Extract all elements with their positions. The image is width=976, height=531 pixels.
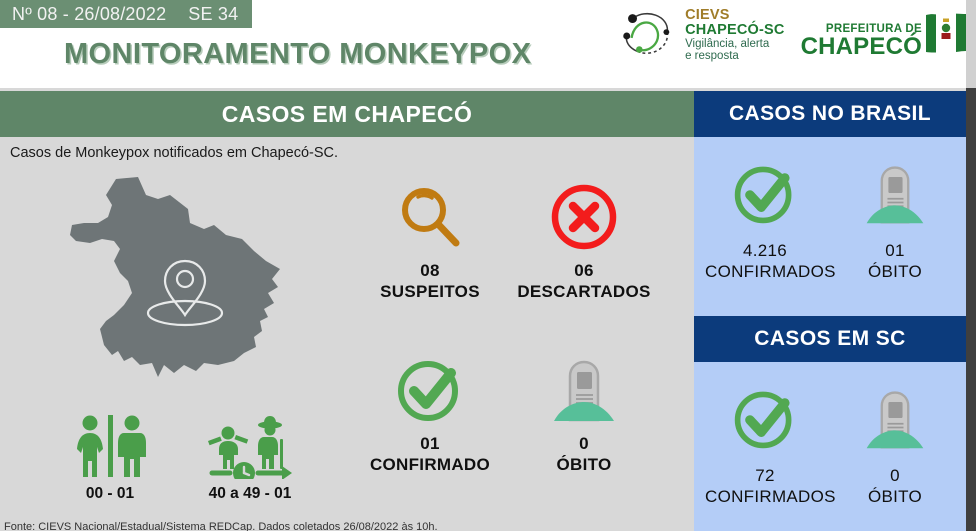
source-note: Fonte: CIEVS Nacional/Estadual/Sistema R… [4,521,438,531]
sc-panel-title: CASOS EM SC [754,327,905,351]
age-group-icon [175,409,325,479]
brasil-obito: 01 ÓBITO [835,157,955,310]
chapeco-flag-icon [924,11,968,59]
issue-banner: Nº 08 - 26/08/2022 SE 34 [0,0,252,28]
sc-confirmados-label: CONFIRMADOS [705,487,825,507]
stat-confirmado: 01 CONFIRMADO [345,352,515,475]
x-circle-icon [499,179,669,255]
stat-confirmado-label: CONFIRMADO [345,455,515,475]
demographic-gender: 00 - 01 [35,409,185,503]
cievs-line4: e resposta [685,50,784,62]
sc-obito-label: ÓBITO [835,487,955,507]
page-title: MONITORAMENTO MONKEYPOX [64,38,531,71]
sc-obito-number: 0 [835,466,955,486]
gender-icon [35,409,185,479]
tombstone-icon [499,352,669,428]
tombstone-icon [835,157,955,231]
chapeco-subtitle: Casos de Monkeypox notificados em Chapec… [10,145,338,161]
brasil-confirmados-number: 4.216 [705,241,825,261]
stat-suspeitos: 08 SUSPEITOS [345,179,515,302]
cievs-orbit-icon [619,6,677,64]
check-circle-icon [705,382,825,456]
brasil-confirmados: 4.216 CONFIRMADOS [705,157,825,310]
cievs-logo: CIEVS CHAPECÓ-SC Vigilância, alerta e re… [619,6,784,64]
cievs-line3: Vigilância, alerta [685,38,784,50]
brasil-obito-label: ÓBITO [835,262,955,282]
dashboard-page: Nº 08 - 26/08/2022 SE 34 MONITORAMENTO M… [0,0,976,531]
stat-obito-number: 0 [499,434,669,454]
chapeco-map [28,165,318,405]
brasil-obito-number: 01 [835,241,955,261]
stat-descartados-number: 06 [499,261,669,281]
prefeitura-line2: CHAPECÓ [801,35,922,59]
cievs-line1: CIEVS [685,8,784,23]
prefeitura-logo: PREFEITURA DE CHAPECÓ [801,11,968,59]
stat-descartados-label: DESCARTADOS [499,282,669,302]
brasil-panel-title: CASOS NO BRASIL [729,102,931,126]
chapeco-section-title: CASOS EM CHAPECÓ [222,101,472,128]
prefeitura-wordmark: PREFEITURA DE CHAPECÓ [801,24,922,60]
brasil-panel-header: CASOS NO BRASIL [694,91,966,137]
sc-obito: 0 ÓBITO [835,382,955,525]
sc-panel-body: 72 CONFIRMADOS 0 [694,362,966,531]
stat-suspeitos-number: 08 [345,261,515,281]
check-circle-icon [345,352,515,428]
sc-confirmados: 72 CONFIRMADOS [705,382,825,525]
cievs-line2: CHAPECÓ-SC [685,23,784,38]
chapeco-panel: Casos de Monkeypox notificados em Chapec… [0,137,694,531]
tombstone-icon [835,382,955,456]
brasil-panel-body: 4.216 CONFIRMADOS 01 [694,137,966,316]
stat-descartados: 06 DESCARTADOS [499,179,669,302]
check-circle-icon [705,157,825,231]
stat-obito: 0 ÓBITO [499,352,669,475]
chapeco-section-header: CASOS EM CHAPECÓ [0,91,694,137]
stat-confirmado-number: 01 [345,434,515,454]
page-header: Nº 08 - 26/08/2022 SE 34 MONITORAMENTO M… [0,0,976,88]
demographic-gender-value: 00 - 01 [35,485,185,503]
stat-obito-label: ÓBITO [499,455,669,475]
demographic-age-value: 40 a 49 - 01 [175,485,325,503]
logo-group: CIEVS CHAPECÓ-SC Vigilância, alerta e re… [619,6,968,64]
sc-panel-header: CASOS EM SC [694,316,966,362]
sc-confirmados-number: 72 [705,466,825,486]
epi-week: SE 34 [188,4,238,25]
stat-suspeitos-label: SUSPEITOS [345,282,515,302]
magnifier-icon [345,179,515,255]
chapeco-map-silhouette-icon [28,165,318,405]
demographic-age: 40 a 49 - 01 [175,409,325,503]
cievs-wordmark: CIEVS CHAPECÓ-SC Vigilância, alerta e re… [685,8,784,63]
right-edge-top [966,0,976,88]
brasil-confirmados-label: CONFIRMADOS [705,262,825,282]
right-scrollbar-track[interactable] [966,88,976,531]
issue-number: Nº 08 - 26/08/2022 [12,4,166,25]
national-sidebar: CASOS NO BRASIL 4.216 CONFIRMADOS [694,91,966,531]
